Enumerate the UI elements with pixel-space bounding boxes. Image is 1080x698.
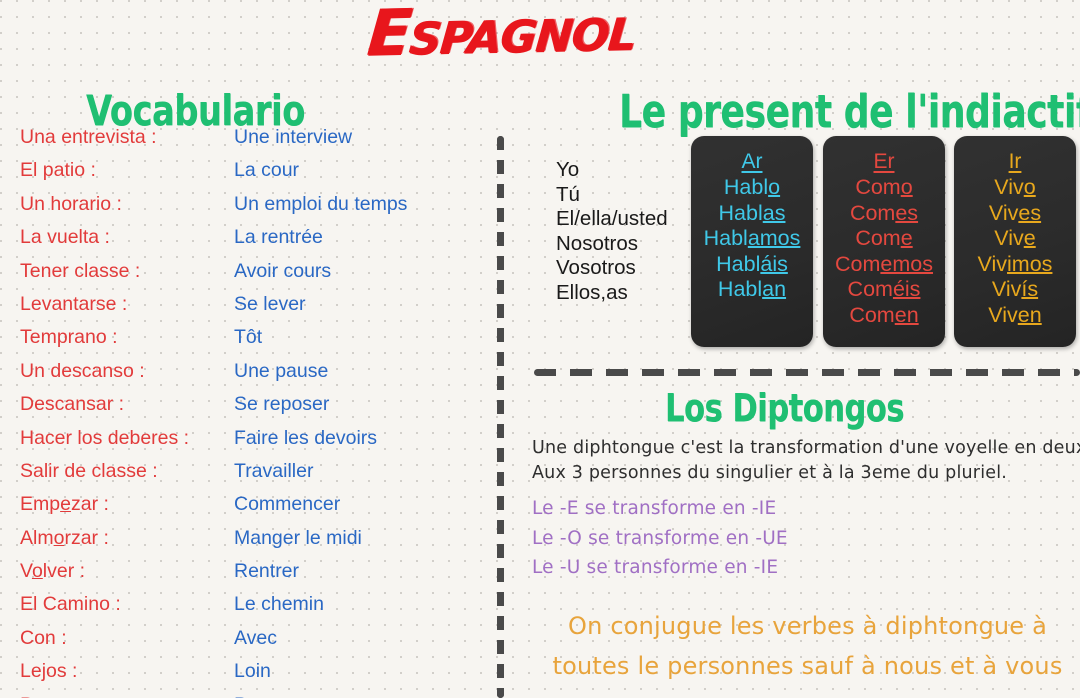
page-title: Espagnol [365, 0, 639, 70]
pronoun-item: Ellos,as [556, 281, 668, 306]
vocabulary-row: Hacer los deberes :Faire les devoirs [20, 427, 470, 460]
vocabulary-term-french: Se reposer [234, 393, 329, 416]
vocabulary-term-french: La rentrée [234, 226, 323, 249]
vocabulary-row: La vuelta :La rentrée [20, 226, 470, 259]
vertical-dashed-divider [497, 136, 504, 698]
vocabulary-term-spanish: Salir de classe : [20, 460, 234, 483]
diptongos-rules: Le -E se transforme en -IELe -O se trans… [532, 494, 788, 583]
vocabulary-term-spanish: Para : [20, 694, 234, 698]
vocabulary-row: Volver :Rentrer [20, 560, 470, 593]
conjugation-form: Hablas [691, 201, 813, 227]
pronoun-item: El/ella/usted [556, 207, 668, 232]
conjugation-card-ir: IrVivoVivesViveVivimosVivísViven [954, 136, 1076, 347]
vocabulary-term-french: Commencer [234, 493, 340, 516]
diptongos-rule-line: Le -O se transforme en -UE [532, 524, 788, 554]
vocabulary-term-spanish: Lejos : [20, 660, 234, 683]
vocabulary-row: Con :Avec [20, 627, 470, 660]
conjugation-card-title: Ir [954, 148, 1076, 175]
conjugation-form: Vives [954, 201, 1076, 227]
diptongos-intro-line: Aux 3 personnes du singulier et à la 3em… [532, 461, 1080, 486]
horizontal-dashed-divider [534, 369, 1080, 376]
vocabulary-term-french: Une interview [234, 126, 352, 149]
vocabulary-term-spanish: Con : [20, 627, 234, 650]
vocabulary-term-spanish: Descansar : [20, 393, 234, 416]
vocabulary-term-spanish: Una entrevista : [20, 126, 234, 149]
conjugation-form: Hablo [691, 175, 813, 201]
conjugation-card-title: Ar [691, 148, 813, 175]
vocabulary-term-french: Pour [234, 694, 275, 698]
conjugation-form: Habláis [691, 252, 813, 278]
conjugation-form: Coméis [823, 277, 945, 303]
vocabulary-row: Temprano :Tôt [20, 326, 470, 359]
vocabulary-term-french: Avoir cours [234, 260, 331, 283]
conjugation-card-er: ErComoComesComeComemosComéisComen [823, 136, 945, 347]
pronoun-item: Nosotros [556, 232, 668, 257]
vocabulary-row: Para :Pour [20, 694, 470, 698]
conjugation-form: Como [823, 175, 945, 201]
vocabulary-term-spanish: Levantarse : [20, 293, 234, 316]
diptongos-heading: Los Diptongos [665, 386, 904, 430]
conjugation-form: Comemos [823, 252, 945, 278]
diptongos-intro: Une diphtongue c'est la transformation d… [532, 436, 1080, 486]
vocabulary-term-french: Manger le midi [234, 527, 362, 550]
pronoun-item: Tú [556, 183, 668, 208]
vocabulary-row: Una entrevista :Une interview [20, 126, 470, 159]
vocabulary-term-french: La cour [234, 159, 299, 182]
vocabulary-row: Tener classe :Avoir cours [20, 260, 470, 293]
conjugation-form: Viven [954, 303, 1076, 329]
conjugation-form: Vivimos [954, 252, 1076, 278]
present-indicative-heading: Le present de l'indiactif [619, 85, 1080, 138]
diptongos-rule-line: Le -E se transforme en -IE [532, 494, 788, 524]
vocabulary-term-french: Travailler [234, 460, 313, 483]
vocabulary-row: Descansar :Se reposer [20, 393, 470, 426]
vocabulary-term-french: Le chemin [234, 593, 324, 616]
diptongos-note-line: On conjugue les verbes à diphtongue à [535, 606, 1080, 646]
pronoun-item: Yo [556, 158, 668, 183]
vocabulary-term-spanish: El Camino : [20, 593, 234, 616]
vocabulary-row: Un horario :Un emploi du temps [20, 193, 470, 226]
vocabulary-term-french: Rentrer [234, 560, 299, 583]
vocabulary-term-spanish: La vuelta : [20, 226, 234, 249]
vocabulary-term-french: Une pause [234, 360, 328, 383]
vocabulary-list: Una entrevista :Une interviewEl patio :L… [20, 126, 470, 698]
vocabulary-row: Almorzar :Manger le midi [20, 527, 470, 560]
vocabulary-term-spanish: Empezar : [20, 493, 234, 516]
vocabulary-term-spanish: El patio : [20, 159, 234, 182]
conjugation-form: Comes [823, 201, 945, 227]
vocabulary-row: Lejos :Loin [20, 660, 470, 693]
pronoun-list: YoTúEl/ella/ustedNosotrosVosotrosEllos,a… [556, 158, 668, 305]
vocabulary-term-spanish: Volver : [20, 560, 234, 583]
vocabulary-term-french: Faire les devoirs [234, 427, 377, 450]
diptongos-rule-line: Le -U se transforme en -IE [532, 553, 788, 583]
diptongos-note: On conjugue les verbes à diphtongue àtou… [535, 606, 1080, 686]
vocabulary-row: Salir de classe :Travailler [20, 460, 470, 493]
vocabulary-term-french: Avec [234, 627, 277, 650]
conjugation-form: Vivo [954, 175, 1076, 201]
vocabulary-row: Levantarse :Se lever [20, 293, 470, 326]
conjugation-form: Comen [823, 303, 945, 329]
conjugation-form: Vive [954, 226, 1076, 252]
vocabulary-term-french: Se lever [234, 293, 306, 316]
diptongos-intro-line: Une diphtongue c'est la transformation d… [532, 436, 1080, 461]
vocabulary-term-spanish: Almorzar : [20, 527, 234, 550]
conjugation-card-title: Er [823, 148, 945, 175]
vocabulary-term-french: Tôt [234, 326, 262, 349]
conjugation-form: Hablamos [691, 226, 813, 252]
conjugation-card-ar: ArHabloHablasHablamosHabláisHablan [691, 136, 813, 347]
conjugation-form: Come [823, 226, 945, 252]
vocabulary-term-spanish: Un horario : [20, 193, 234, 216]
vocabulary-row: Empezar :Commencer [20, 493, 470, 526]
conjugation-form: Vivís [954, 277, 1076, 303]
pronoun-item: Vosotros [556, 256, 668, 281]
vocabulary-term-spanish: Un descanso : [20, 360, 234, 383]
vocabulary-term-spanish: Hacer los deberes : [20, 427, 234, 450]
vocabulary-term-french: Un emploi du temps [234, 193, 407, 216]
vocabulary-term-spanish: Tener classe : [20, 260, 234, 283]
vocabulary-term-french: Loin [234, 660, 271, 683]
vocabulary-row: El Camino :Le chemin [20, 593, 470, 626]
conjugation-form: Hablan [691, 277, 813, 303]
vocabulary-row: El patio :La cour [20, 159, 470, 192]
vocabulary-row: Un descanso :Une pause [20, 360, 470, 393]
diptongos-note-line: toutes le personnes sauf à nous et à vou… [535, 646, 1080, 686]
vocabulary-term-spanish: Temprano : [20, 326, 234, 349]
